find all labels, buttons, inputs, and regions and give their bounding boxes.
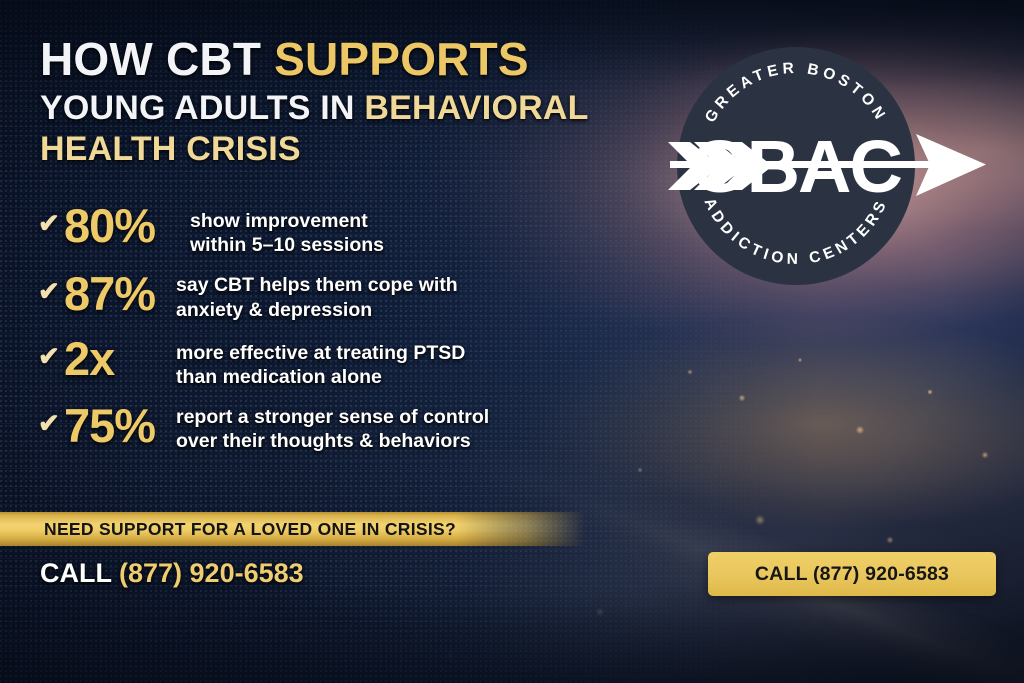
stat-description-line-2: than medication alone [176, 365, 598, 389]
stat-description-line-2: anxiety & depression [176, 298, 598, 322]
headline-line-1-white: HOW CBT [40, 33, 274, 85]
gbac-logo: GREATER BOSTON ADDICTION CENTERS [668, 38, 988, 294]
stat-value: 75% [64, 402, 176, 449]
statistics-list: ✔ 80% show improvement within 5–10 sessi… [38, 200, 598, 464]
check-icon: ✔ [38, 278, 64, 304]
headline: HOW CBT SUPPORTS YOUNG ADULTS IN BEHAVIO… [40, 36, 640, 166]
call-label: CALL [40, 558, 119, 588]
support-banner: NEED SUPPORT FOR A LOVED ONE IN CRISIS? [0, 512, 585, 546]
logo-monogram: GBAC [691, 125, 901, 208]
stat-description: report a stronger sense of control over … [176, 400, 598, 453]
stat-value: 2x [64, 335, 176, 382]
headline-line-1-gold: SUPPORTS [274, 33, 529, 85]
call-phone-number: (877) 920-6583 [119, 558, 304, 588]
stat-description-line-1: show improvement [190, 210, 368, 232]
stat-description-line-2: within 5–10 sessions [190, 233, 598, 257]
stat-description-line-1: say CBT helps them cope with [176, 274, 458, 296]
call-cta-button-label: CALL (877) 920-6583 [755, 563, 949, 586]
stat-row: ✔ 87% say CBT helps them cope with anxie… [38, 268, 598, 321]
stat-description-line-1: more effective at treating PTSD [176, 342, 465, 364]
headline-line-2-white: YOUNG ADULTS IN [40, 89, 364, 127]
check-icon: ✔ [38, 343, 64, 369]
check-icon: ✔ [38, 410, 64, 436]
headline-line-3-gold: HEALTH CRISIS [40, 130, 301, 168]
stat-value: 80% [64, 202, 190, 249]
headline-line-1: HOW CBT SUPPORTS [40, 36, 640, 82]
stat-row: ✔ 75% report a stronger sense of control… [38, 400, 598, 453]
support-banner-text: NEED SUPPORT FOR A LOVED ONE IN CRISIS? [44, 519, 456, 540]
headline-line-3: HEALTH CRISIS [40, 132, 640, 166]
stat-row: ✔ 2x more effective at treating PTSD tha… [38, 333, 598, 389]
infographic-poster: HOW CBT SUPPORTS YOUNG ADULTS IN BEHAVIO… [0, 0, 1024, 683]
stat-description: say CBT helps them cope with anxiety & d… [176, 268, 598, 321]
stat-description-line-2: over their thoughts & behaviors [176, 429, 598, 453]
stat-description: show improvement within 5–10 sessions [190, 200, 598, 257]
headline-line-2-gold: BEHAVIORAL [364, 89, 588, 127]
check-icon: ✔ [38, 210, 64, 236]
stat-description-line-1: report a stronger sense of control [176, 406, 489, 428]
stat-row: ✔ 80% show improvement within 5–10 sessi… [38, 200, 598, 257]
headline-line-2: YOUNG ADULTS IN BEHAVIORAL [40, 91, 640, 125]
call-cta-button[interactable]: CALL (877) 920-6583 [708, 552, 996, 596]
stat-value: 87% [64, 270, 176, 317]
call-line[interactable]: CALL (877) 920-6583 [40, 558, 304, 589]
stat-description: more effective at treating PTSD than med… [176, 333, 598, 389]
